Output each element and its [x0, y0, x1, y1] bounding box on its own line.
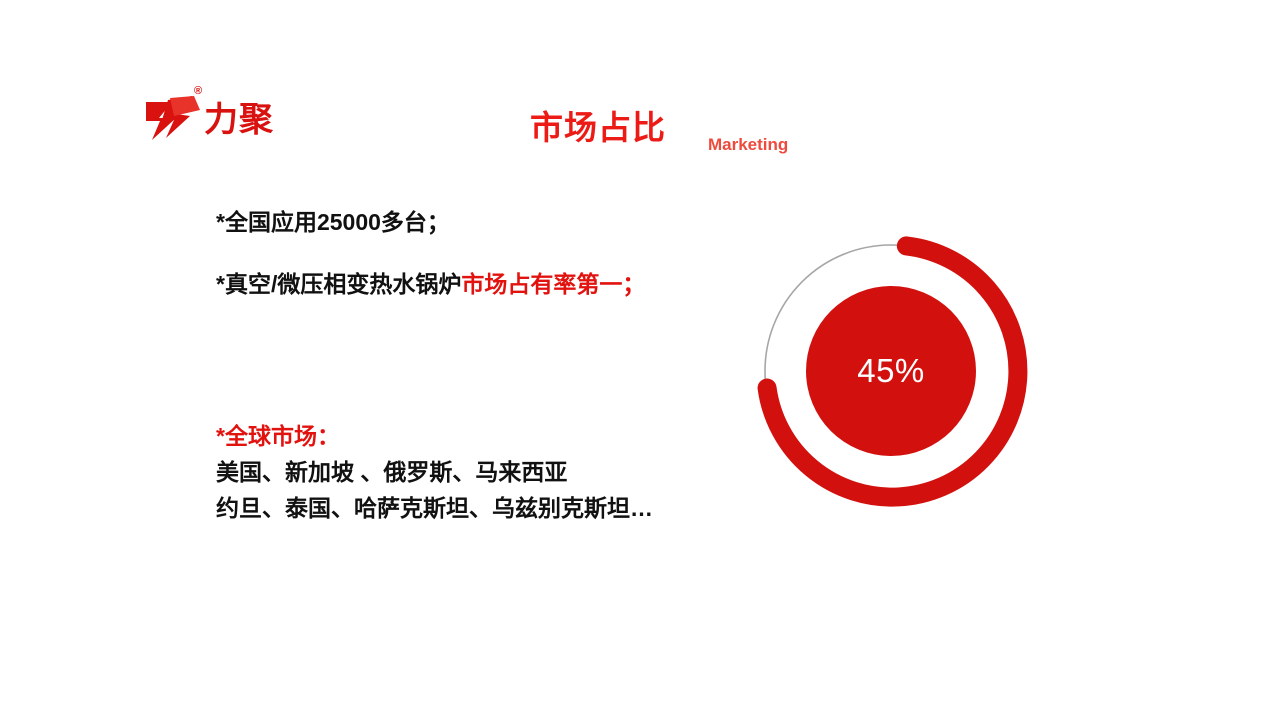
bullet-item-domestic-units: *全国应用25000多台；: [216, 205, 716, 239]
global-market-heading: *全球市场：: [216, 418, 776, 454]
bullet-list: *全国应用25000多台； *真空/微压相变热水锅炉市场占有率第一；: [216, 205, 716, 301]
brand-logo: ® 力聚: [146, 86, 271, 144]
page-subtitle: Marketing: [708, 134, 788, 156]
global-market-line-1: 美国、新加坡 、俄罗斯、马来西亚: [216, 454, 776, 490]
donut-hub-circle: [806, 286, 976, 456]
bullet-item-market-share: *真空/微压相变热水锅炉市场占有率第一；: [216, 267, 716, 301]
slide-canvas: ® 力聚 市场占比 Marketing *全国应用25000多台； *真空/微压…: [0, 0, 1280, 720]
market-share-donut-chart: 45%: [748, 228, 1034, 514]
registered-trademark-icon: ®: [194, 86, 202, 97]
lijiu-bolt-logo-icon: [146, 94, 202, 142]
brand-name: 力聚: [204, 101, 274, 139]
page-title: 市场占比: [530, 108, 666, 148]
global-market-block: *全球市场： 美国、新加坡 、俄罗斯、马来西亚 约旦、泰国、哈萨克斯坦、乌兹别克…: [216, 418, 776, 526]
global-market-line-2: 约旦、泰国、哈萨克斯坦、乌兹别克斯坦…: [216, 490, 776, 526]
bullet-2-highlight-text: 市场占有率第一；: [461, 271, 645, 297]
bullet-2-black-text: *真空/微压相变热水锅炉: [216, 271, 461, 297]
